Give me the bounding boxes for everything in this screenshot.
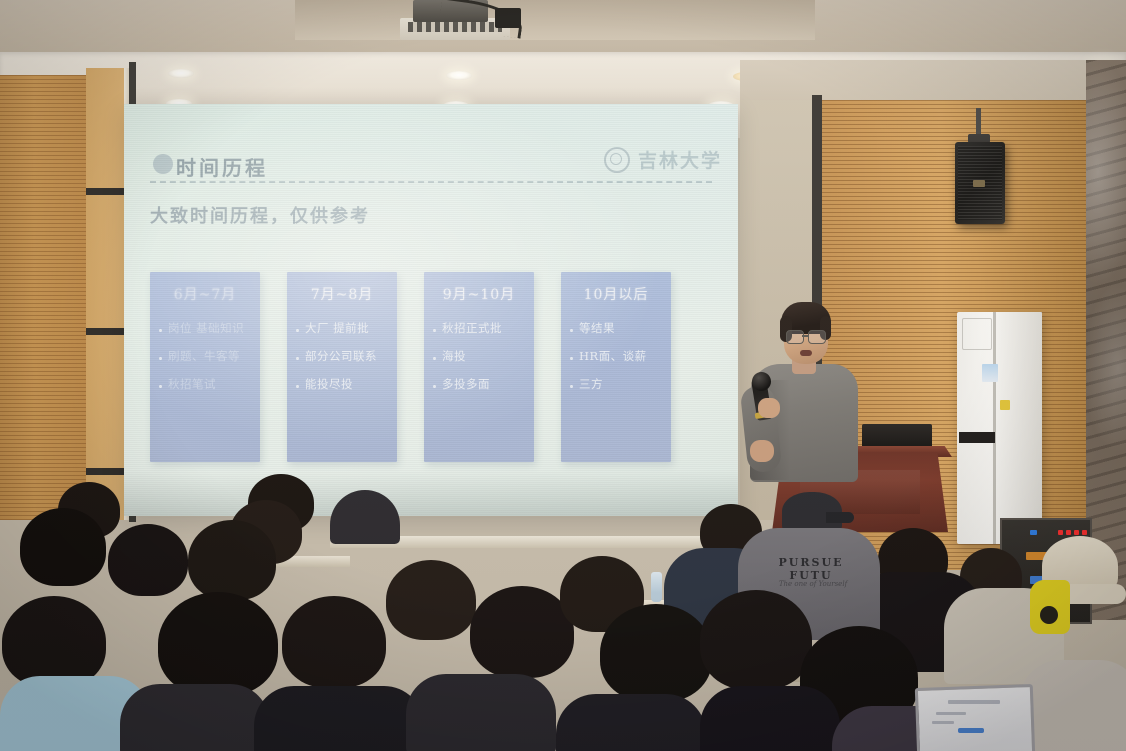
timeline-cards: 6月~7月 岗位 基础知识 刷题、牛客等 秋招笔试 — [150, 272, 720, 472]
ceiling-recess — [295, 0, 815, 40]
university-brand: 吉林大学 — [604, 146, 722, 173]
lecture-hall-photo: 时间历程 大致时间历程，仅供参考 吉林大学 6月~7月 岗位 基础知识 刷题、牛… — [0, 0, 1126, 751]
bullet-icon — [433, 385, 436, 388]
list-item: 秋招笔试 — [159, 378, 255, 392]
presenter-mouth — [800, 350, 812, 356]
timeline-card: 9月~10月 秋招正式批 海投 多投多面 — [424, 272, 534, 462]
university-name: 吉林大学 — [638, 146, 722, 173]
timeline-card: 7月~8月 大厂 提前批 部分公司联系 能投尽投 — [287, 272, 397, 462]
ac-seam — [993, 312, 996, 544]
cap-brim — [826, 512, 854, 523]
jacket-subtext: The one of Yourself — [766, 580, 860, 588]
audience-shoulders — [700, 686, 840, 751]
laptop-button — [958, 728, 984, 733]
timeline-card: 10月以后 等结果 HR面、谈薪 三方 — [561, 272, 671, 462]
card-item-text: 海投 — [442, 350, 466, 364]
ceiling-downlight — [168, 69, 194, 78]
card-item-text: HR面、谈薪 — [579, 350, 647, 364]
glasses-icon — [808, 330, 826, 344]
bullet-icon — [159, 385, 162, 388]
card-heading: 10月以后 — [561, 284, 671, 304]
card-heading: 6月~7月 — [150, 284, 260, 304]
card-item-text: 部分公司联系 — [305, 350, 377, 364]
audience-head — [600, 604, 712, 702]
card-list: 岗位 基础知识 刷题、牛客等 秋招笔试 — [159, 322, 255, 405]
bullet-icon — [159, 357, 162, 360]
bullet-icon — [159, 329, 162, 332]
audience-shoulders — [1020, 660, 1126, 751]
ac-label — [982, 364, 998, 382]
bullet-icon — [570, 357, 573, 360]
card-heading: 9月~10月 — [424, 284, 534, 304]
presenter-hand — [750, 440, 774, 462]
card-item-text: 三方 — [579, 378, 603, 392]
bullet-icon — [296, 385, 299, 388]
rack-led — [1074, 530, 1079, 535]
slide-subtitle: 大致时间历程，仅供参考 — [150, 202, 370, 228]
water-bottle — [651, 572, 662, 602]
audience-head — [108, 524, 188, 596]
audience-shoulders — [556, 694, 706, 751]
rack-led — [1030, 530, 1037, 535]
presenter-hand — [758, 398, 780, 418]
rack-led — [1058, 530, 1063, 535]
jacket-text: PURSUE FUTU — [758, 556, 864, 582]
list-item: 部分公司联系 — [296, 350, 392, 364]
card-item-text: 等结果 — [579, 322, 615, 336]
list-item: 大厂 提前批 — [296, 322, 392, 336]
ac-vent — [962, 318, 992, 350]
list-item: 三方 — [570, 378, 666, 392]
bullet-icon — [433, 329, 436, 332]
list-item: HR面、谈薪 — [570, 350, 666, 364]
wooden-slat-wall-left — [0, 75, 86, 520]
list-item: 多投多面 — [433, 378, 529, 392]
bullet-icon — [296, 329, 299, 332]
bullet-icon — [296, 357, 299, 360]
bullet-icon — [433, 357, 436, 360]
list-item: 海投 — [433, 350, 529, 364]
ac-display-strip — [959, 432, 995, 443]
timeline-card: 6月~7月 岗位 基础知识 刷题、牛客等 秋招笔试 — [150, 272, 260, 462]
bullet-icon — [570, 329, 573, 332]
audience-head — [20, 508, 106, 586]
rack-led — [1066, 530, 1071, 535]
card-item-text: 能投尽投 — [305, 378, 353, 392]
ac-warning-sticker — [1000, 400, 1010, 410]
card-list: 秋招正式批 海投 多投多面 — [433, 322, 529, 405]
marble-column — [1086, 60, 1126, 620]
audience-laptop — [915, 684, 1035, 751]
slide-divider — [150, 181, 712, 183]
card-item-text: 秋招笔试 — [168, 378, 216, 392]
rack-led — [1082, 530, 1087, 535]
laptop-content-line — [932, 721, 954, 724]
circle-bullet-icon — [153, 154, 173, 174]
card-item-text: 多投多面 — [442, 378, 490, 392]
laptop-content-line — [936, 712, 966, 715]
ceiling-downlight — [446, 71, 472, 80]
audience-shoulders — [406, 674, 556, 751]
list-item: 秋招正式批 — [433, 322, 529, 336]
presenter — [744, 300, 864, 480]
laptop-content-line — [948, 700, 1000, 704]
list-item: 岗位 基础知识 — [159, 322, 255, 336]
glasses-icon — [786, 330, 804, 344]
speaker-logo — [973, 180, 985, 187]
audience-head — [158, 592, 278, 696]
list-item: 能投尽投 — [296, 378, 392, 392]
card-list: 大厂 提前批 部分公司联系 能投尽投 — [296, 322, 392, 405]
card-item-text: 大厂 提前批 — [305, 322, 369, 336]
audience-head — [2, 596, 106, 688]
list-item: 等结果 — [570, 322, 666, 336]
card-item-text: 秋招正式批 — [442, 322, 502, 336]
audience-head — [470, 586, 574, 678]
card-heading: 7月~8月 — [287, 284, 397, 304]
university-seal-icon — [604, 147, 630, 173]
audience-shoulders — [120, 684, 270, 751]
card-item-text: 刷题、牛客等 — [168, 350, 240, 364]
audience-shoulders — [254, 686, 424, 751]
audience-head — [386, 560, 476, 640]
presentation-slide: 时间历程 大致时间历程，仅供参考 吉林大学 6月~7月 岗位 基础知识 刷题、牛… — [124, 104, 738, 516]
microphone-head-icon — [752, 372, 771, 391]
audience-head — [188, 520, 276, 600]
slide-title: 时间历程 — [176, 152, 268, 181]
card-item-text: 岗位 基础知识 — [168, 322, 244, 336]
jacket-detail — [1040, 606, 1058, 624]
glasses-bridge — [802, 335, 809, 337]
projector-cable-connector — [495, 8, 521, 28]
card-list: 等结果 HR面、谈薪 三方 — [570, 322, 666, 405]
audience-head — [700, 590, 812, 690]
bullet-icon — [570, 385, 573, 388]
list-item: 刷题、牛客等 — [159, 350, 255, 364]
audience-head — [282, 596, 386, 688]
